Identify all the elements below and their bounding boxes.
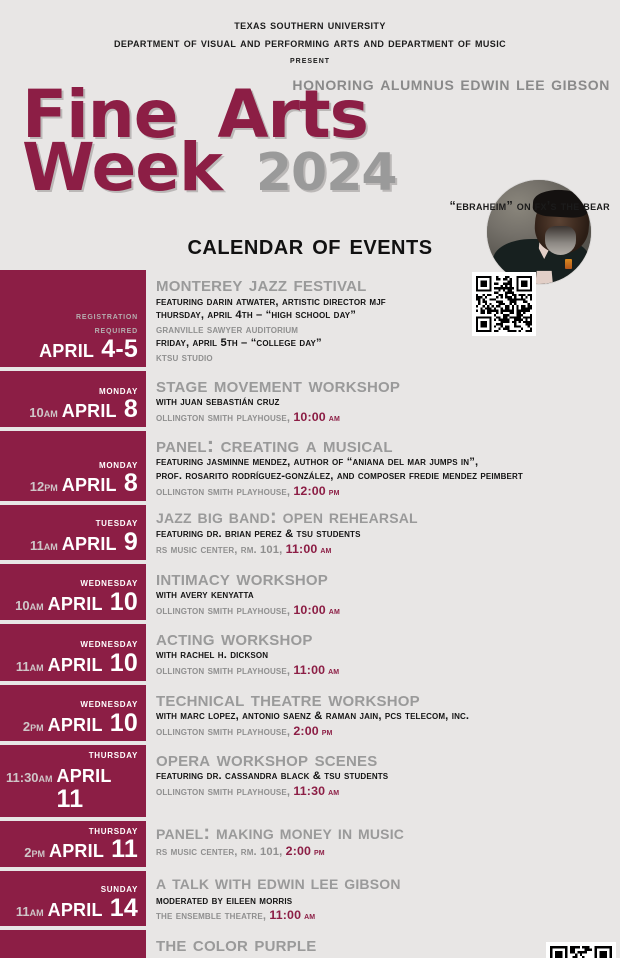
event-date-main: 11:30amApril 11 (6, 762, 138, 812)
qr-code-icon[interactable] (472, 272, 536, 336)
event-time: 10am (15, 599, 43, 612)
event-detail: Panel: Creating a Musicalfeaturing Jasmi… (148, 431, 620, 501)
event-start-time: 11:00 (293, 663, 325, 677)
event-date-cell: Tuesday11amApril 9 (0, 505, 148, 559)
event-date: April 10 (48, 711, 138, 736)
event-start-meridiem: am (325, 787, 339, 798)
event-start-time: 11:00 (286, 542, 318, 556)
event-detail: Stage Movement Workshopwith Juan Sebasti… (148, 371, 620, 427)
event-date: April 14 (48, 896, 138, 921)
event-venue: KTSU studio (156, 351, 614, 365)
event-date: April 9 (62, 530, 138, 555)
event-row: Wednesday10amApril 10Intimacy Workshopwi… (0, 564, 620, 620)
event-title: Stage Movement Workshop (156, 373, 614, 396)
event-title: A Talk with Edwin Lee Gibson (156, 873, 614, 894)
event-subtitle: featuring Jasminne Mendez, author of “An… (156, 456, 614, 470)
event-date: April 10 (48, 590, 138, 615)
event-date-cell: Wednesday2pmApril 10 (0, 685, 148, 741)
event-detail: Opera Workshop Scenesfeaturing Dr. Cassa… (148, 745, 620, 817)
event-venue: Granville Sawyer Auditorium (156, 323, 614, 337)
event-subtitle: moderated by Eileen Morris (156, 895, 614, 909)
event-time: 11:30am (6, 771, 53, 784)
event-detail: Jazz Big Band: Open Rehearsalfeaturing D… (148, 505, 620, 559)
fine-arts-week-poster: Texas Southern University Department of … (0, 0, 620, 958)
event-subtitle: featuring Dr. Cassandra Black & TSU stud… (156, 770, 614, 784)
avatar (487, 180, 591, 284)
event-row: TicketedEventApril 12-14The Color Purple… (0, 930, 620, 958)
department-names: Department of Visual and Performing Arts… (0, 35, 620, 53)
title-year: 2024 (256, 143, 397, 203)
event-row: Sunday11amApril 14A Talk with Edwin Lee … (0, 871, 620, 925)
event-time: 11am (16, 660, 44, 673)
event-venue: RS Music Center, Rm. 101, 11:00 am (156, 542, 614, 558)
event-start-meridiem: am (301, 911, 315, 922)
event-subtitle: featuring Dr. Brian Perez & TSU students (156, 528, 614, 542)
event-start-meridiem: pm (311, 847, 325, 858)
event-venue: Ollington Smith Playhouse, 11:00 am (156, 663, 614, 679)
event-date: April 8 (62, 397, 138, 422)
qr-code-icon[interactable] (546, 942, 616, 958)
event-time: 2pm (24, 846, 45, 859)
event-venue: Ollington Smith Playhouse, 11:30 am (156, 784, 614, 800)
event-start-meridiem: am (326, 606, 340, 617)
title-word-week: Week (22, 129, 222, 206)
event-date-cell: RegistrationRequiredApril 4-5 (0, 270, 148, 366)
event-date: April 11 (49, 837, 138, 862)
event-start-meridiem: am (326, 413, 340, 424)
event-date-main: 12pmApril 8 (30, 471, 138, 496)
event-date-main: April 4-5 (39, 337, 138, 362)
present-word: present (0, 53, 620, 68)
event-subtitle: featuring Darin Atwater, Artistic Direct… (156, 296, 614, 310)
event-subtitle: Friday, April 5th – “College Day” (156, 337, 614, 351)
event-detail: The Color PurpleDirected by Delisa Chatm… (148, 930, 620, 958)
event-venue: Ollington Smith Playhouse, 10:00 am (156, 603, 614, 619)
event-date-main: 11amApril 10 (16, 651, 138, 676)
event-row: Thursday2pmApril 11Panel: Making Money i… (0, 821, 620, 868)
event-start-meridiem: pm (319, 727, 333, 738)
event-row: Monday12pmApril 8Panel: Creating a Music… (0, 431, 620, 501)
event-date-cell: Wednesday10amApril 10 (0, 564, 148, 620)
event-date-main: 10amApril 8 (29, 397, 138, 422)
university-name: Texas Southern University (0, 17, 620, 35)
event-date-cell: Wednesday11amApril 10 (0, 624, 148, 680)
event-date: April 10 (48, 651, 138, 676)
event-start-time: 2:00 (286, 844, 311, 858)
event-row: Wednesday2pmApril 10Technical Theatre Wo… (0, 685, 620, 741)
event-detail: Technical Theatre Workshopwith Marc Lope… (148, 685, 620, 741)
event-start-time: 2:00 (293, 724, 318, 738)
event-title: Intimacy Workshop (156, 566, 614, 589)
event-start-time: 10:00 (293, 410, 325, 424)
title-block: Honoring Alumnus Edwin Lee Gibson Fine A… (0, 73, 620, 233)
event-row: Thursday11:30amApril 11Opera Workshop Sc… (0, 745, 620, 817)
event-time: 11am (30, 539, 58, 552)
events-list: RegistrationRequiredApril 4-5Monterey Ja… (0, 270, 620, 958)
event-start-time: 10:00 (293, 603, 325, 617)
event-title: Opera Workshop Scenes (156, 747, 614, 770)
poster-header: Texas Southern University Department of … (0, 0, 620, 67)
event-date-cell: Thursday11:30amApril 11 (0, 745, 148, 817)
event-detail: A Talk with Edwin Lee Gibsonmoderated by… (148, 871, 620, 925)
event-row: Tuesday11amApril 9Jazz Big Band: Open Re… (0, 505, 620, 559)
event-row: RegistrationRequiredApril 4-5Monterey Ja… (0, 270, 620, 366)
poster-main-title: Fine Arts Week 2024 (22, 89, 397, 195)
event-title: Technical Theatre Workshop (156, 687, 614, 710)
event-detail: Intimacy Workshopwith Avery KenyattaOlli… (148, 564, 620, 620)
event-date-main: 2pmApril 10 (23, 711, 138, 736)
event-start-meridiem: am (325, 666, 339, 677)
event-subtitle: with Avery Kenyatta (156, 589, 614, 603)
event-time: 10am (29, 406, 57, 419)
event-start-meridiem: am (317, 545, 331, 556)
event-start-time: 11:00 (269, 908, 301, 922)
event-title: Panel: Making Money in Music (156, 823, 614, 844)
event-date-cell: Monday10amApril 8 (0, 371, 148, 427)
event-row: Monday10amApril 8Stage Movement Workshop… (0, 371, 620, 427)
event-start-meridiem: pm (326, 487, 340, 498)
event-detail: Panel: Making Money in MusicRS Music Cen… (148, 821, 620, 868)
event-subtitle: with Juan Sebastián Cruz (156, 396, 614, 410)
event-title: Acting Workshop (156, 626, 614, 649)
event-date-main: 2pmApril 11 (24, 837, 138, 862)
event-detail: Monterey Jazz Festivalfeaturing Darin At… (148, 270, 620, 366)
event-subtitle: with Marc Lopez, Antonio Saenz & Raman J… (156, 710, 614, 724)
event-detail: Acting Workshopwith Rachel H. DicksonOll… (148, 624, 620, 680)
event-title: Monterey Jazz Festival (156, 272, 614, 295)
event-note-line: Registration (76, 310, 138, 323)
event-start-time: 11:30 (293, 784, 325, 798)
event-subtitle: Thursday, April 4th – “High School Day” (156, 309, 614, 323)
event-subtitle: Prof. Rosarito Rodríguez-González, and c… (156, 470, 614, 484)
event-date-cell: Sunday11amApril 14 (0, 871, 148, 925)
event-date-main: 11amApril 14 (16, 896, 138, 921)
event-venue: Ollington Smith Playhouse, 10:00 am (156, 410, 614, 426)
event-start-time: 12:00 (293, 484, 325, 498)
event-date-main: 10amApril 10 (15, 590, 138, 615)
event-venue: The Ensemble Theatre, 11:00 am (156, 908, 614, 924)
event-venue: Ollington Smith Playhouse, 12:00 pm (156, 484, 614, 500)
event-date-cell: Thursday2pmApril 11 (0, 821, 148, 868)
event-date: April 8 (62, 471, 138, 496)
event-date-main: 11amApril 9 (30, 530, 138, 555)
event-time: 2pm (23, 720, 44, 733)
event-row: Wednesday11amApril 10Acting Workshopwith… (0, 624, 620, 680)
event-date: April 11 (57, 762, 138, 812)
event-time: 11am (16, 905, 44, 918)
portrait-caption: “Ebraheim” on FX’s The Bear (450, 199, 610, 213)
event-date-cell: Monday12pmApril 8 (0, 431, 148, 501)
event-time: 12pm (30, 480, 58, 493)
event-subtitle: with Rachel H. Dickson (156, 649, 614, 663)
event-note: RegistrationRequired (76, 310, 138, 336)
event-venue: Ollington Smith Playhouse, 2:00 pm (156, 724, 614, 740)
event-date-cell: TicketedEventApril 12-14 (0, 930, 148, 958)
event-date: April 4-5 (39, 337, 138, 362)
event-title: Panel: Creating a Musical (156, 433, 614, 456)
event-title: Jazz Big Band: Open Rehearsal (156, 507, 614, 528)
event-venue: RS Music Center, Rm. 101, 2:00 pm (156, 844, 614, 860)
